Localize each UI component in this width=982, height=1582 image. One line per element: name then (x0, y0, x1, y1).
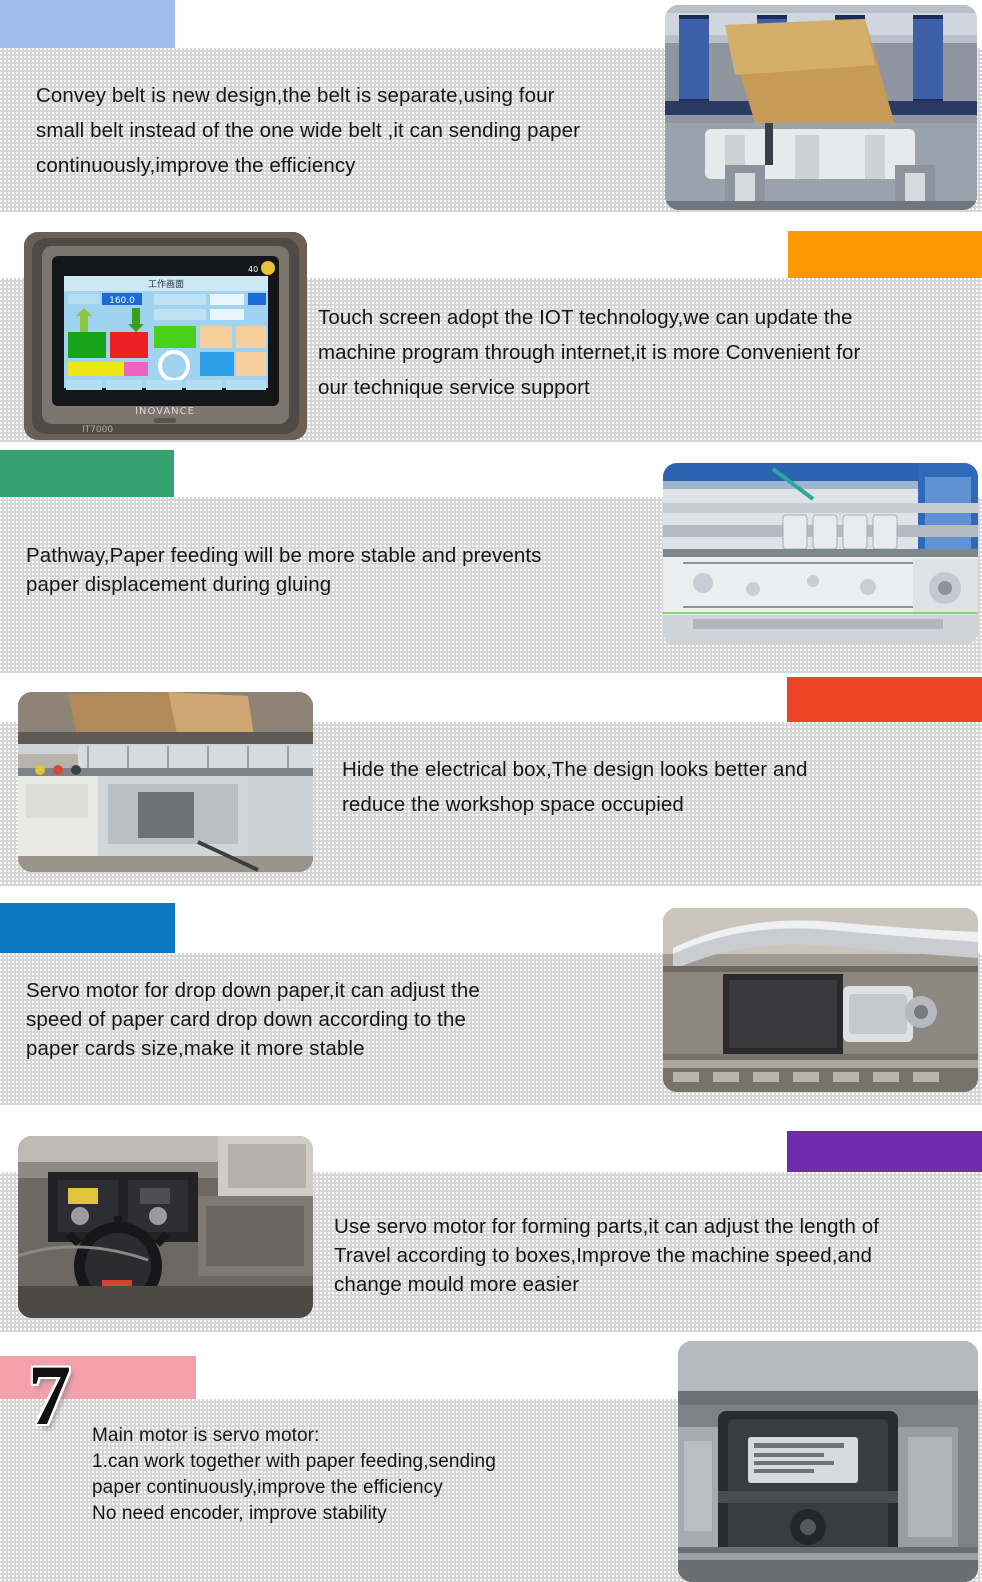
svg-text:INOVANCE: INOVANCE (135, 406, 195, 417)
touch-screen-hmi-photo: 工作画面 40 160.0 INOVANCE IT7000 (24, 232, 307, 440)
section-7-text: Main motor is servo motor: 1.can work to… (92, 1423, 692, 1527)
section-1-text: Convey belt is new design,the belt is se… (36, 78, 656, 183)
svg-text:工作画面: 工作画面 (148, 278, 184, 290)
accent-bar-4 (787, 677, 982, 722)
main-servo-motor-photo (678, 1341, 978, 1582)
conveyor-belt-photo (665, 5, 977, 210)
section-7-numeral: 7 (28, 1352, 71, 1438)
section-3-text: Pathway,Paper feeding will be more stabl… (26, 541, 646, 599)
section-2-text: Touch screen adopt the IOT technology,we… (318, 300, 958, 405)
accent-bar-5 (0, 903, 175, 953)
svg-text:IT7000: IT7000 (82, 425, 113, 435)
svg-text:160.0: 160.0 (109, 296, 135, 306)
accent-bar-1 (0, 0, 175, 48)
hidden-electrical-box-photo (18, 692, 313, 872)
accent-bar-3 (0, 450, 174, 497)
accent-bar-6 (787, 1131, 982, 1172)
section-4-text: Hide the electrical box,The design looks… (342, 752, 942, 822)
paper-pathway-photo (663, 463, 978, 645)
svg-text:40: 40 (248, 265, 258, 274)
forming-parts-servo-photo (18, 1136, 313, 1318)
section-5-text: Servo motor for drop down paper,it can a… (26, 976, 626, 1063)
section-6-text: Use servo motor for forming parts,it can… (334, 1212, 934, 1299)
drop-down-servo-motor-photo (663, 908, 978, 1092)
accent-bar-2 (788, 231, 982, 278)
